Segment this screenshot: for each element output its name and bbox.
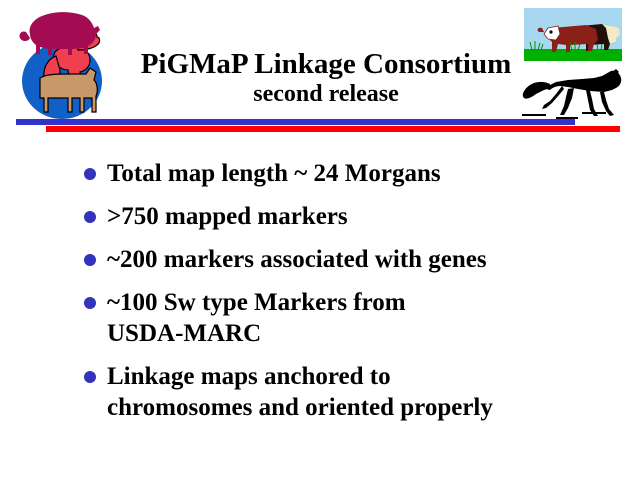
bullet-line-1: Linkage maps anchored to (107, 363, 391, 390)
presentation-slide: PiGMaP Linkage Consortium second release (0, 0, 640, 480)
bullet-point-icon (84, 297, 96, 309)
bullet-line-2: USDA-MARC (107, 318, 632, 349)
bullet-line-2: chromosomes and oriented properly (107, 392, 632, 423)
list-item: ~200 markers associated with genes (84, 244, 632, 275)
galloping-horse-silhouette (516, 68, 628, 124)
bullet-line-1: ~200 markers associated with genes (107, 246, 487, 273)
list-item: Linkage maps anchored to chromosomes and… (84, 361, 632, 423)
slide-header: PiGMaP Linkage Consortium second release (0, 0, 640, 140)
bullet-point-icon (84, 371, 96, 383)
bullet-line-1: Total map length ~ 24 Morgans (107, 160, 441, 187)
list-item: >750 mapped markers (84, 201, 632, 232)
divider-rule-blue (16, 119, 575, 125)
bullet-point-icon (84, 211, 96, 223)
bullet-item-text: Total map length ~ 24 Morgans (107, 158, 632, 189)
bullet-item-text: >750 mapped markers (107, 201, 632, 232)
bullet-line-1: ~100 Sw type Markers from (107, 289, 406, 316)
bullet-item-text: Linkage maps anchored to chromosomes and… (107, 361, 632, 423)
list-item: ~100 Sw type Markers from USDA-MARC (84, 287, 632, 349)
bullet-point-icon (84, 168, 96, 180)
bullet-list: Total map length ~ 24 Morgans >750 mappe… (84, 158, 632, 435)
grazing-cattle-photo (524, 8, 622, 61)
photo-grass (524, 49, 622, 61)
list-item: Total map length ~ 24 Morgans (84, 158, 632, 189)
bullet-point-icon (84, 254, 96, 266)
bullet-item-text: ~200 markers associated with genes (107, 244, 632, 275)
bullet-item-text: ~100 Sw type Markers from USDA-MARC (107, 287, 632, 349)
bullet-line-1: >750 mapped markers (107, 203, 348, 230)
divider-rule-red (46, 126, 620, 132)
